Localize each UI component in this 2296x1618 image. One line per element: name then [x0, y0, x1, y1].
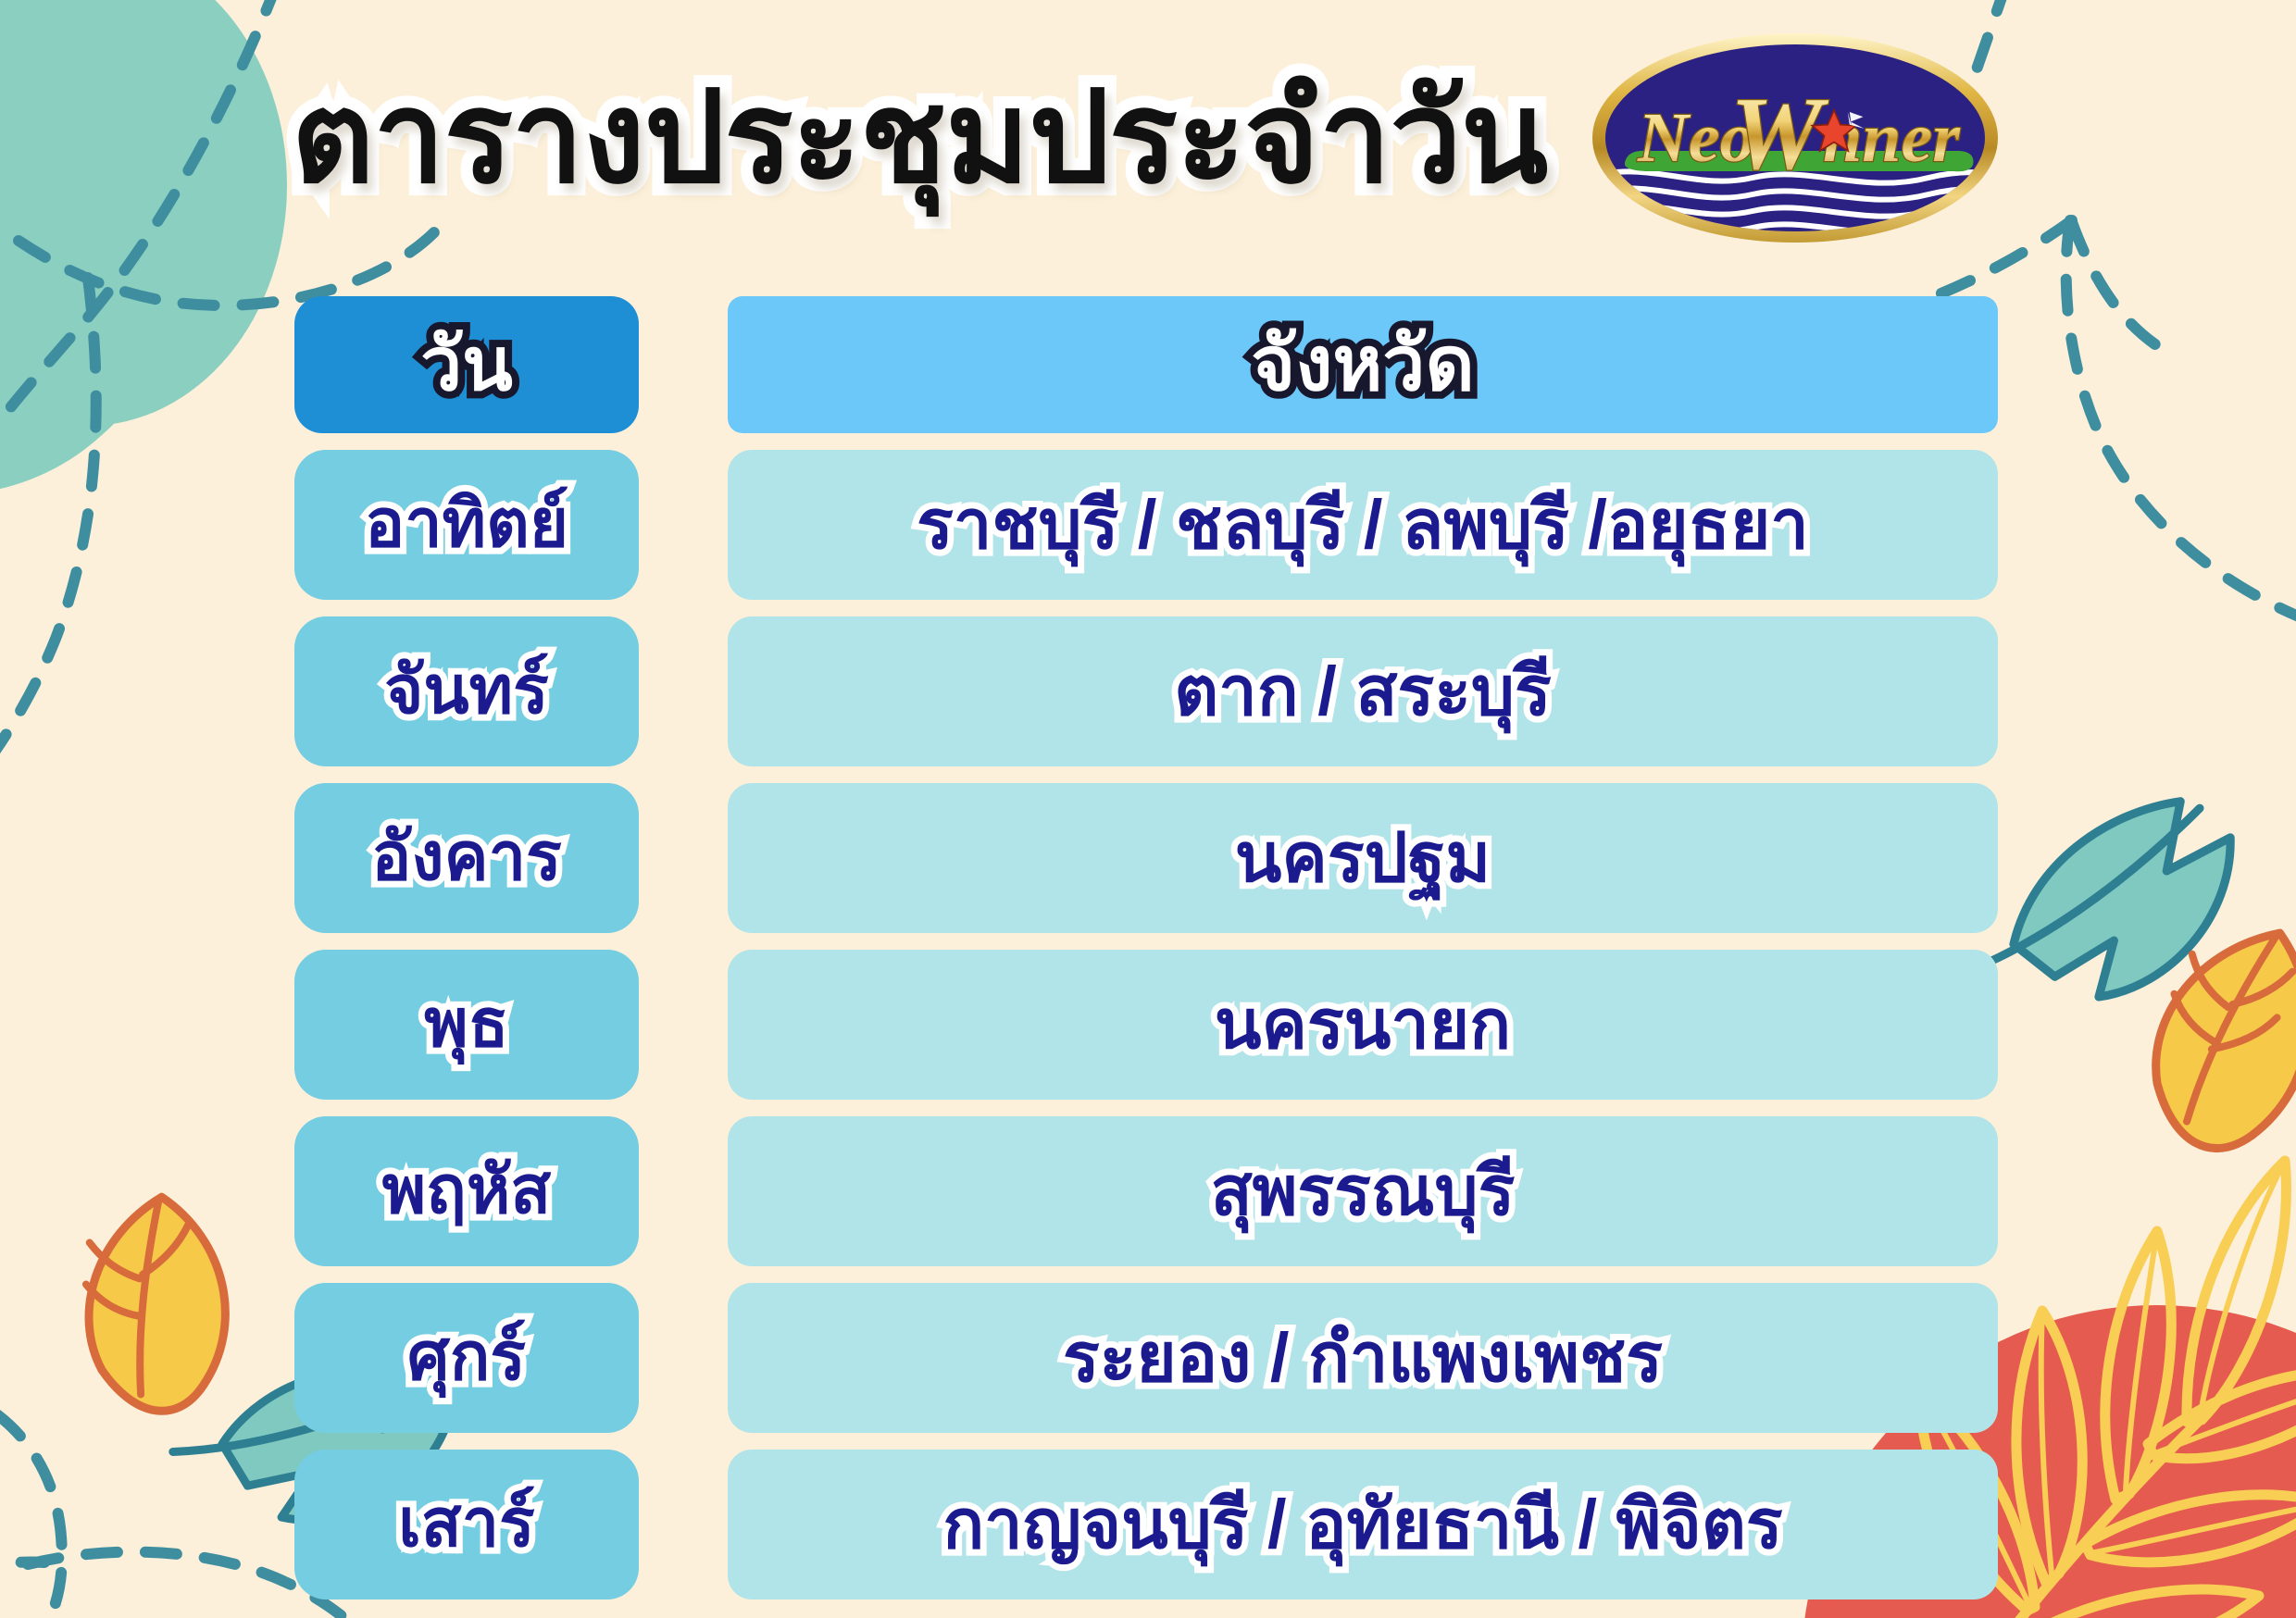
table-row: เสาร์ กาญจนบุรี / อุทัยธานี / พิจิตร — [294, 1450, 1998, 1599]
table-row: อาทิตย์ ราชบุรี / ชลบุรี / ลพบุรี /อยุธย… — [294, 450, 1998, 600]
province-label: ราชบุรี / ชลบุรี / ลพบุรี /อยุธยา — [917, 489, 1809, 561]
page-title: ตารางประชุมประจำวัน — [292, 67, 1548, 210]
neowinner-logo: Neo W nner — [1586, 31, 2004, 244]
header-label-day: วัน — [420, 326, 513, 404]
day-label: อาทิตย์ — [365, 490, 568, 560]
cell-day: อังคาร — [294, 783, 639, 933]
cell-day: อาทิตย์ — [294, 450, 639, 600]
cell-province: นครปฐม — [728, 783, 1998, 933]
day-label: อังคาร — [371, 823, 562, 893]
table-row: พฤหัส สุพรรณบุรี — [294, 1116, 1998, 1266]
logo-text-w: W — [1730, 77, 1829, 192]
province-label: สุพรรณบุรี — [1211, 1155, 1516, 1227]
table-row: จันทร์ ตาก / สระบุรี — [294, 616, 1998, 766]
cell-day: จันทร์ — [294, 616, 639, 766]
cell-province: นครนายก — [728, 950, 1998, 1100]
day-label: พุธ — [424, 989, 508, 1060]
table-row: ศุกร์ ระยอง / กำแพงเพชร — [294, 1283, 1998, 1433]
poster-canvas: ตารางประชุมประจำวัน — [0, 0, 2296, 1618]
header-label-province: จังหวัด — [1251, 325, 1474, 404]
schedule-table: วัน จังหวัด อาทิตย์ ราชบุรี / ชลบุรี / ล… — [294, 296, 1998, 1599]
cell-day: ศุกร์ — [294, 1283, 639, 1433]
cell-province: ราชบุรี / ชลบุรี / ลพบุรี /อยุธยา — [728, 450, 1998, 600]
cell-province: กาญจนบุรี / อุทัยธานี / พิจิตร — [728, 1450, 1998, 1599]
table-row: อังคาร นครปฐม — [294, 783, 1998, 933]
day-label: ศุกร์ — [407, 1323, 526, 1393]
header-cell-day: วัน — [294, 296, 639, 433]
cell-province: สุพรรณบุรี — [728, 1116, 1998, 1266]
province-label: กาญจนบุรี / อุทัยธานี / พิจิตร — [942, 1488, 1782, 1561]
poster-header: ตารางประชุมประจำวัน — [0, 31, 2296, 244]
cell-day: เสาร์ — [294, 1450, 639, 1599]
leaf-yellow-bottom-left — [72, 1190, 239, 1420]
leaf-yellow-top-right — [2140, 913, 2296, 1163]
cell-province: ระยอง / กำแพงเพชร — [728, 1283, 1998, 1433]
day-label: เสาร์ — [398, 1489, 535, 1560]
header-cell-province: จังหวัด — [728, 296, 1998, 433]
province-label: ระยอง / กำแพงเพชร — [1063, 1322, 1663, 1394]
province-label: ตาก / สระบุรี — [1174, 655, 1551, 728]
day-label: จันทร์ — [384, 656, 549, 727]
cell-province: ตาก / สระบุรี — [728, 616, 1998, 766]
logo-artwork: Neo W nner — [1586, 31, 2004, 244]
province-label: นครนายก — [1215, 989, 1511, 1061]
cell-day: พุธ — [294, 950, 639, 1100]
table-header-row: วัน จังหวัด — [294, 296, 1998, 433]
province-label: นครปฐม — [1235, 822, 1491, 894]
day-label: พฤหัส — [382, 1156, 551, 1226]
table-row: พุธ นครนายก — [294, 950, 1998, 1100]
cell-day: พฤหัส — [294, 1116, 639, 1266]
